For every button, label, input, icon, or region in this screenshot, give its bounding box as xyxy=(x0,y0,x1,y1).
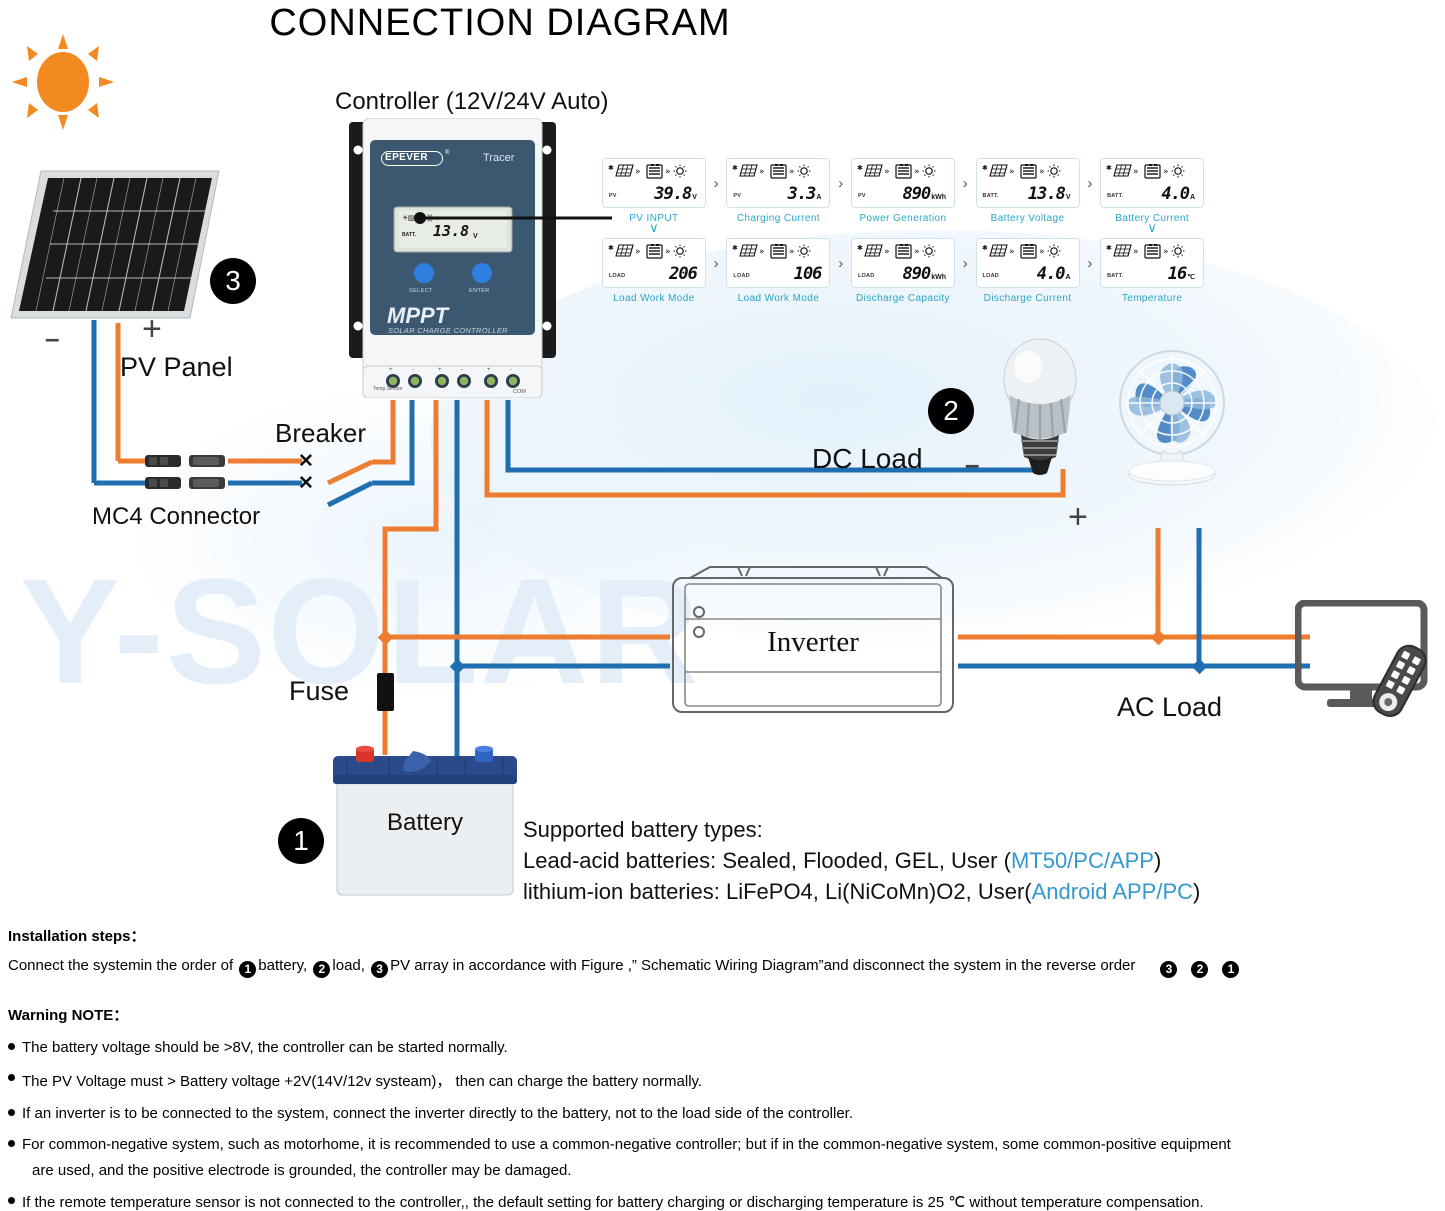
lcd-readout: 206 xyxy=(608,260,700,284)
installation-steps-line: Connect the systemin the order of 1batte… xyxy=(8,957,1438,978)
lcd-unit: kWh xyxy=(931,194,946,204)
lcd-readout: 106 xyxy=(732,260,824,284)
svg-text:»: » xyxy=(789,247,794,257)
lcd-caption: Discharge Capacity xyxy=(856,293,950,304)
lcd-icon-strip: ✱»» xyxy=(857,162,949,180)
lcd-screen-cell: ✱»»BATT.16℃Temperature xyxy=(1096,238,1208,304)
controller-subtitle: SOLAR CHARGE CONTROLLER xyxy=(388,326,508,335)
bullet-icon xyxy=(8,1043,15,1050)
lcd-source-tag: BATT. xyxy=(1107,273,1123,279)
warning-note-item: If an inverter is to be connected to the… xyxy=(8,1105,1438,1122)
svg-text:-: - xyxy=(461,367,463,373)
svg-text:✱: ✱ xyxy=(1106,244,1112,252)
svg-text:»: » xyxy=(1133,247,1138,257)
warning-note-heading: Warning NOTE： xyxy=(8,1004,1438,1025)
warning-note-item: The battery voltage should be >8V, the c… xyxy=(8,1039,1438,1056)
dc-load-label: DC Load xyxy=(812,443,923,475)
controller-caption: Controller (12V/24V Auto) xyxy=(335,88,608,116)
lcd-unit: V xyxy=(1066,194,1071,204)
lcd-readout: 39.8V xyxy=(608,180,700,204)
warning-note-text: If an inverter is to be connected to the… xyxy=(22,1105,853,1122)
controller-lcd-tag: BATT. xyxy=(402,232,416,238)
lcd-screen: ✱»»PV39.8V xyxy=(602,158,706,208)
svg-text:-: - xyxy=(412,367,414,373)
lcd-unit: V xyxy=(692,194,697,204)
warning-note-item: For common-negative system, such as moto… xyxy=(8,1136,1438,1179)
lcd-icon-strip: ✱»» xyxy=(732,242,824,260)
lcd-readout: 16℃ xyxy=(1106,260,1198,284)
inline-badge-1: 1 xyxy=(239,961,256,978)
ac-load-label: AC Load xyxy=(1117,692,1222,723)
lcd-unit: A xyxy=(816,194,821,204)
svg-text:+: + xyxy=(389,367,393,373)
pv-panel-label: PV Panel xyxy=(120,352,233,383)
breaker-x-mark-positive: ✕ xyxy=(298,450,314,473)
svg-text:»: » xyxy=(665,247,670,257)
controller-lcd-icons: ☀▨ ))) ▮ ))) ☼ xyxy=(402,214,440,222)
svg-text:»: » xyxy=(759,167,764,177)
inverter-device: Inverter xyxy=(668,562,958,717)
com-port-label: COM xyxy=(513,389,526,395)
lcd-screen: ✱»»LOAD890kWh xyxy=(851,238,955,288)
lcd-icon-strip: ✱»» xyxy=(608,162,700,180)
lcd-unit: A xyxy=(1190,194,1195,204)
warning-note-text: The PV Voltage must > Battery voltage +2… xyxy=(22,1073,702,1090)
brand-registered-icon: ® xyxy=(445,150,449,156)
battery-types-heading: Supported battery types: xyxy=(523,814,1200,845)
mc4-connector-positive xyxy=(145,452,229,475)
svg-text:»: » xyxy=(1163,167,1168,177)
controller-model: Tracer xyxy=(483,152,514,164)
lcd-readout: 4.0A xyxy=(1106,180,1198,204)
lcd-source-tag: PV xyxy=(733,193,741,199)
lcd-value: 106 xyxy=(794,264,822,284)
lcd-screen-cell: ✱»»LOAD106Load Work Mode xyxy=(723,238,835,304)
warning-note-item: If the remote temperature sensor is not … xyxy=(8,1193,1438,1211)
reverse-badge-2: 2 xyxy=(1191,961,1208,978)
fan-icon xyxy=(1105,348,1240,493)
lcd-icon-strip: ✱»» xyxy=(608,242,700,260)
mc4-connector-label: MC4 Connector xyxy=(92,503,260,531)
svg-text:✱: ✱ xyxy=(982,164,988,172)
lead-acid-close-paren: ) xyxy=(1154,848,1161,873)
lead-acid-link[interactable]: MT50/PC/APP xyxy=(1011,848,1154,873)
svg-text:»: » xyxy=(884,167,889,177)
svg-text:»: » xyxy=(914,247,919,257)
breaker-x-mark-negative: ✕ xyxy=(298,472,314,495)
svg-text:»: » xyxy=(1039,167,1044,177)
lcd-screen-cell: ✱»»LOAD206Load Work Mode xyxy=(598,238,710,304)
lcd-screen-cell: ✱»»PV3.3ACharging Current xyxy=(723,158,835,224)
lead-acid-text: Lead-acid batteries: Sealed, Flooded, GE… xyxy=(523,848,1011,873)
dc-load-negative-label: – xyxy=(965,449,979,480)
lcd-chevron-icon: › xyxy=(710,158,723,208)
lcd-caption: Battery Voltage xyxy=(991,213,1065,224)
lithium-text: lithium-ion batteries: LiFePO4, Li(NiCoM… xyxy=(523,879,1032,904)
lcd-icon-strip: ✱»» xyxy=(732,162,824,180)
svg-text:✱: ✱ xyxy=(608,244,614,252)
lcd-value: 3.3 xyxy=(788,184,816,204)
lcd-icon-strip: ✱»» xyxy=(1106,242,1198,260)
bullet-icon xyxy=(8,1074,15,1081)
warning-note-continuation: are used, and the positive electrode is … xyxy=(22,1162,1438,1179)
lcd-caption: Temperature xyxy=(1122,293,1183,304)
warning-note-text: The battery voltage should be >8V, the c… xyxy=(22,1039,508,1056)
controller-lcd-value: 13.8 xyxy=(433,222,469,240)
lcd-unit: kWh xyxy=(931,274,946,284)
warning-note-text: If the remote temperature sensor is not … xyxy=(22,1194,1204,1211)
lcd-value: 4.0 xyxy=(1037,264,1065,284)
page-title: CONNECTION DIAGRAM xyxy=(0,2,1000,45)
footer-notes: Installation steps： Connect the systemin… xyxy=(8,925,1438,1211)
inline-badge-3: 3 xyxy=(371,961,388,978)
lcd-readout: 4.0A xyxy=(982,260,1074,284)
reverse-badge-3: 3 xyxy=(1160,961,1177,978)
inverter-label: Inverter xyxy=(668,626,958,659)
controller-lcd-unit: V xyxy=(473,233,478,240)
svg-text:»: » xyxy=(1039,247,1044,257)
sun-icon xyxy=(8,32,118,132)
supported-battery-types: Supported battery types: Lead-acid batte… xyxy=(523,814,1200,907)
lcd-chevron-icon: › xyxy=(834,238,847,288)
lcd-down-chevron-icon: ∨ xyxy=(649,224,659,232)
battery-types-line-2: lithium-ion batteries: LiFePO4, Li(NiCoM… xyxy=(523,876,1200,907)
controller-brand: EPEVER xyxy=(385,152,428,163)
enter-button-label[interactable]: ENTER xyxy=(469,288,490,294)
tv-monitor-icon xyxy=(1295,600,1435,718)
breaker-label: Breaker xyxy=(275,418,366,449)
lcd-value: 890 xyxy=(902,264,930,284)
step-badge-pv: 3 xyxy=(210,258,256,304)
lcd-screen-cell: ✱»»LOAD890kWhDischarge Capacity xyxy=(847,238,959,304)
lcd-screen: ✱»»BATT.16℃ xyxy=(1100,238,1204,288)
light-bulb-icon xyxy=(995,337,1085,482)
lcd-source-tag: LOAD xyxy=(733,273,749,279)
lcd-chevron-icon: › xyxy=(710,238,723,288)
step-badge-load: 2 xyxy=(928,388,974,434)
svg-text:✱: ✱ xyxy=(857,244,863,252)
lcd-screen: ✱»»LOAD106 xyxy=(726,238,830,288)
lcd-source-tag: BATT. xyxy=(983,193,999,199)
pv-positive-label: + xyxy=(142,310,162,349)
bullet-icon xyxy=(8,1109,15,1116)
lcd-screen-cell: ✱»»BATT.13.8VBattery Voltage xyxy=(972,158,1084,224)
lcd-value: 13.8 xyxy=(1028,184,1065,204)
lcd-value: 4.0 xyxy=(1161,184,1189,204)
lithium-close-paren: ) xyxy=(1193,879,1200,904)
install-text-d: PV array in accordance with Figure ,” Sc… xyxy=(390,957,1135,974)
lcd-value: 890 xyxy=(902,184,930,204)
lcd-source-tag: LOAD xyxy=(609,273,625,279)
svg-text:»: » xyxy=(914,167,919,177)
svg-text:✱: ✱ xyxy=(732,244,738,252)
lcd-screen-cell: ✱»»PV39.8VPV INPUT∨ xyxy=(598,158,710,232)
lcd-icon-strip: ✱»» xyxy=(857,242,949,260)
fuse-icon xyxy=(377,673,394,711)
lcd-icon-strip: ✱»» xyxy=(982,242,1074,260)
installation-steps-heading: Installation steps： xyxy=(8,925,1438,946)
svg-text:»: » xyxy=(1163,247,1168,257)
install-text-a: Connect the systemin the order of xyxy=(8,957,237,974)
lcd-source-tag: PV xyxy=(858,193,866,199)
warning-note-text: For common-negative system, such as moto… xyxy=(22,1136,1231,1153)
lcd-screen: ✱»»LOAD4.0A xyxy=(976,238,1080,288)
install-text-b: battery, xyxy=(258,957,311,974)
install-text-c: load, xyxy=(332,957,369,974)
lcd-caption: Load Work Mode xyxy=(738,293,820,304)
svg-text:»: » xyxy=(635,167,640,177)
svg-text:»: » xyxy=(1133,167,1138,177)
svg-text:»: » xyxy=(759,247,764,257)
lcd-chevron-icon: › xyxy=(834,158,847,208)
reverse-order-badges: 321 xyxy=(1153,957,1246,978)
fuse-label: Fuse xyxy=(289,676,349,707)
lcd-value: 206 xyxy=(669,264,697,284)
lcd-unit: ℃ xyxy=(1187,273,1195,284)
lcd-screen: ✱»»PV890kWh xyxy=(851,158,955,208)
svg-text:»: » xyxy=(884,247,889,257)
lcd-caption: Discharge Current xyxy=(984,293,1072,304)
pv-panel-image xyxy=(8,168,223,323)
lcd-screen-cell: ✱»»LOAD4.0ADischarge Current xyxy=(972,238,1084,304)
lcd-value: 16 xyxy=(1168,264,1186,284)
charge-controller[interactable]: +- +- +- EPEVER ® Tracer ☀▨ ))) ▮ ))) ☼ … xyxy=(345,118,560,398)
svg-text:»: » xyxy=(1009,247,1014,257)
lcd-source-tag: LOAD xyxy=(858,273,874,279)
svg-text:✱: ✱ xyxy=(982,244,988,252)
lcd-readout: 890kWh xyxy=(857,180,949,204)
lcd-chevron-icon: › xyxy=(959,238,972,288)
lcd-chevron-icon: › xyxy=(1083,158,1096,208)
lcd-down-chevron-icon: ∨ xyxy=(1147,224,1157,232)
lcd-screen-gallery: ✱»»PV39.8VPV INPUT∨›✱»»PV3.3ACharging Cu… xyxy=(598,158,1208,333)
battery-image: Battery xyxy=(325,745,525,900)
lcd-readout: 3.3A xyxy=(732,180,824,204)
svg-text:»: » xyxy=(665,167,670,177)
lcd-icon-strip: ✱»» xyxy=(982,162,1074,180)
lcd-chevron-icon: › xyxy=(959,158,972,208)
lcd-value: 39.8 xyxy=(654,184,691,204)
battery-label: Battery xyxy=(325,809,525,837)
svg-text:+: + xyxy=(438,367,442,373)
lcd-caption: Power Generation xyxy=(859,213,946,224)
reverse-badge-1: 1 xyxy=(1222,961,1239,978)
svg-text:+: + xyxy=(487,367,491,373)
svg-text:✱: ✱ xyxy=(1106,164,1112,172)
svg-text:»: » xyxy=(789,167,794,177)
lcd-chevron-icon: › xyxy=(1083,238,1096,288)
lcd-source-tag: LOAD xyxy=(983,273,999,279)
svg-text:✱: ✱ xyxy=(857,164,863,172)
svg-text:»: » xyxy=(635,247,640,257)
dc-load-positive-label: + xyxy=(1068,498,1088,537)
battery-types-line-1: Lead-acid batteries: Sealed, Flooded, GE… xyxy=(523,845,1200,876)
bullet-icon xyxy=(8,1140,15,1147)
inline-badge-2: 2 xyxy=(313,961,330,978)
lcd-readout: 890kWh xyxy=(857,260,949,284)
lcd-caption: Charging Current xyxy=(737,213,820,224)
lcd-screen-cell: ✱»»PV890kWhPower Generation xyxy=(847,158,959,224)
mc4-connector-negative xyxy=(145,474,229,497)
lcd-screen: ✱»»BATT.4.0A xyxy=(1100,158,1204,208)
lcd-source-tag: BATT. xyxy=(1107,193,1123,199)
lcd-screen-cell: ✱»»BATT.4.0ABattery Current∨ xyxy=(1096,158,1208,232)
bullet-icon xyxy=(8,1197,15,1204)
svg-text:-: - xyxy=(510,367,512,373)
svg-text:✱: ✱ xyxy=(732,164,738,172)
lcd-icon-strip: ✱»» xyxy=(1106,162,1198,180)
temp-sensor-label: Temp Sensor xyxy=(373,387,402,393)
lcd-source-tag: PV xyxy=(609,193,617,199)
pv-negative-label: – xyxy=(45,323,59,354)
select-button-label[interactable]: SELECT xyxy=(409,288,433,294)
lcd-readout: 13.8V xyxy=(982,180,1074,204)
lithium-link[interactable]: Android APP/PC xyxy=(1032,879,1193,904)
step-badge-battery: 1 xyxy=(278,818,324,864)
svg-text:»: » xyxy=(1009,167,1014,177)
lcd-caption: Load Work Mode xyxy=(613,293,695,304)
lcd-screen: ✱»»PV3.3A xyxy=(726,158,830,208)
lcd-screen: ✱»»BATT.13.8V xyxy=(976,158,1080,208)
warning-note-list: The battery voltage should be >8V, the c… xyxy=(8,1039,1438,1211)
warning-note-item: The PV Voltage must > Battery voltage +2… xyxy=(8,1070,1438,1091)
lcd-screen: ✱»»LOAD206 xyxy=(602,238,706,288)
lcd-unit: A xyxy=(1065,274,1070,284)
svg-text:✱: ✱ xyxy=(608,164,614,172)
